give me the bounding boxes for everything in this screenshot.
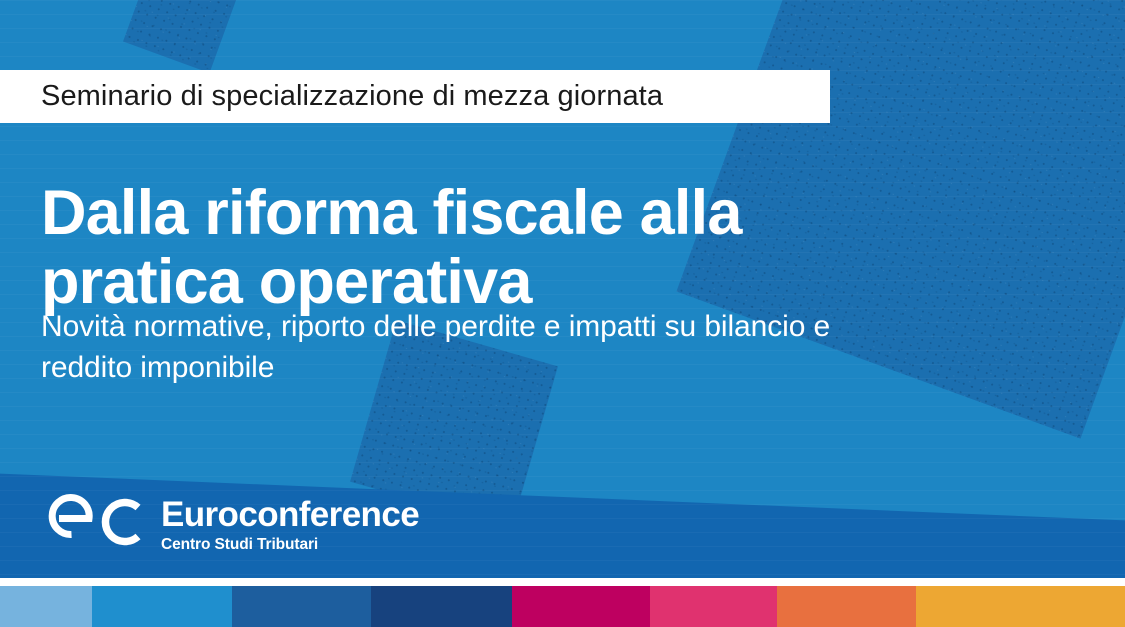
ec-monogram-icon — [41, 494, 147, 555]
page-subtitle-line-2: reddito imponibile — [41, 348, 1001, 389]
brand-wordmark: Euroconference Centro Studi Tributari — [161, 497, 419, 553]
color-swatch-magenta — [512, 586, 650, 627]
page-title-line-1: Dalla riforma fiscale alla — [41, 179, 901, 248]
brand-tagline: Centro Studi Tributari — [161, 537, 419, 553]
color-swatch-orange — [777, 586, 915, 627]
color-swatch-navy — [371, 586, 512, 627]
color-swatch-azure — [92, 586, 232, 627]
color-swatch-pink — [650, 586, 777, 627]
page-subtitle: Novità normative, riporto delle perdite … — [41, 307, 1001, 389]
color-swatch-light-blue — [0, 586, 92, 627]
brand-logo: Euroconference Centro Studi Tributari — [41, 494, 419, 555]
eyebrow-label: Seminario di specializzazione di mezza g… — [41, 80, 663, 113]
color-swatch-medium-blue — [232, 586, 372, 627]
eyebrow-banner: Seminario di specializzazione di mezza g… — [0, 70, 830, 123]
seminar-promo-poster: Seminario di specializzazione di mezza g… — [0, 0, 1125, 627]
poster-content: Seminario di specializzazione di mezza g… — [0, 0, 1125, 627]
color-swatch-amber — [916, 586, 1125, 627]
page-title: Dalla riforma fiscale alla pratica opera… — [41, 179, 901, 316]
brand-name: Euroconference — [161, 497, 419, 532]
divider-strip — [0, 578, 1125, 586]
page-subtitle-line-1: Novità normative, riporto delle perdite … — [41, 307, 1001, 348]
brand-color-bar — [0, 586, 1125, 627]
